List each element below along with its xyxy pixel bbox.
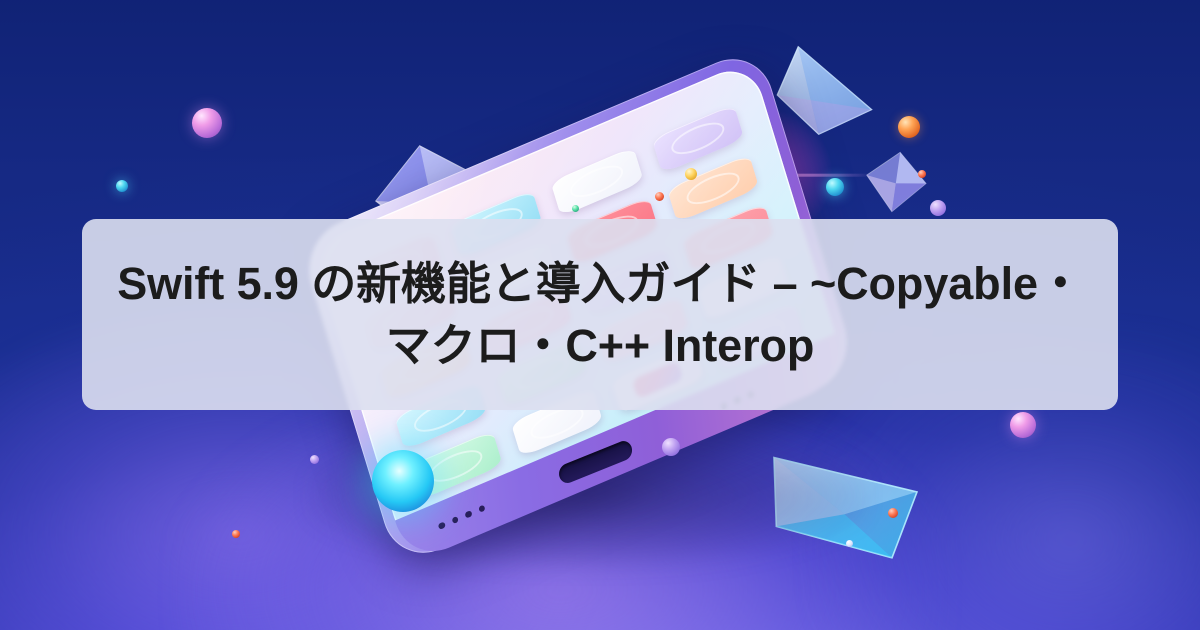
sphere-orange-right-icon (898, 116, 920, 138)
sphere-white-bottom-icon (846, 540, 853, 547)
sphere-yellow-small-icon (685, 168, 697, 180)
sphere-violet-right-icon (930, 200, 946, 216)
sphere-red-tiny-icon (655, 192, 664, 201)
sphere-pink-lower-right-icon (1010, 412, 1036, 438)
cyan-glow-orb-icon (372, 450, 434, 512)
page-title: Swift 5.9 の新機能と導入ガイド – ~Copyable・マクロ・C++… (82, 253, 1118, 375)
sphere-red-bottom-left-icon (232, 530, 240, 538)
phone-speaker-grille-left (438, 504, 486, 530)
sphere-red-bottom-icon (888, 508, 898, 518)
sphere-teal-left-icon (116, 180, 128, 192)
sphere-violet-bottom-left-icon (310, 455, 319, 464)
sphere-violet-lower-icon (662, 438, 680, 456)
sphere-red-small-icon (918, 170, 926, 178)
title-card-panel: Swift 5.9 の新機能と導入ガイド – ~Copyable・マクロ・C++… (82, 219, 1118, 410)
hero-image-canvas: Swift 5.9 の新機能と導入ガイド – ~Copyable・マクロ・C++… (0, 0, 1200, 630)
sphere-green-tiny-icon (572, 205, 579, 212)
sphere-teal-center-icon (826, 178, 844, 196)
sphere-pink-upper-left-icon (192, 108, 222, 138)
